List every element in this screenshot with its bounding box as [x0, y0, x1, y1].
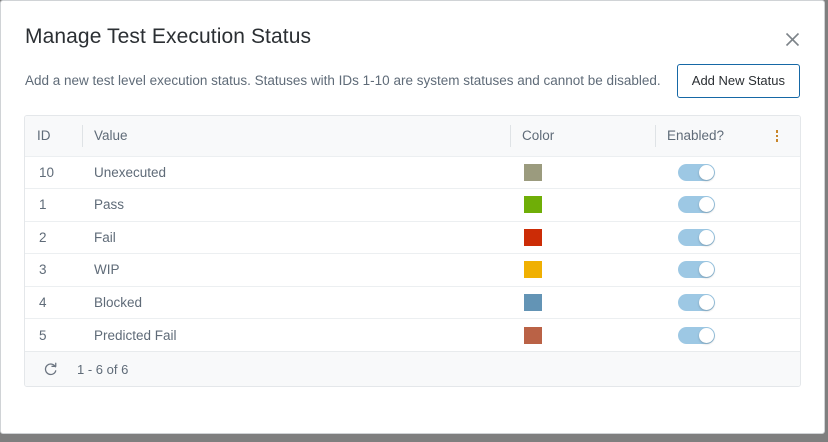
- cell-row-menu: [765, 319, 801, 352]
- close-icon[interactable]: [780, 27, 804, 51]
- cell-enabled: [655, 156, 765, 189]
- enabled-toggle[interactable]: [678, 229, 715, 246]
- column-header-color[interactable]: Color: [510, 116, 655, 156]
- status-table: ID Value Color Enabled? 10Unexecuted1Pas…: [25, 116, 801, 351]
- cell-id: 5: [25, 319, 82, 352]
- column-header-value[interactable]: Value: [82, 116, 510, 156]
- table-header-row: ID Value Color Enabled?: [25, 116, 801, 156]
- color-swatch[interactable]: [524, 229, 542, 246]
- cell-value: Pass: [82, 189, 510, 222]
- more-vertical-icon[interactable]: [769, 128, 785, 144]
- add-new-status-button[interactable]: Add New Status: [677, 64, 800, 98]
- cell-color: [510, 221, 655, 254]
- pagination-range-label: 1 - 6 of 6: [77, 362, 128, 377]
- cell-id: 2: [25, 221, 82, 254]
- cell-row-menu: [765, 254, 801, 287]
- dialog-subheader: Add a new test level execution status. S…: [1, 51, 824, 98]
- toggle-knob: [699, 328, 714, 343]
- enabled-toggle[interactable]: [678, 327, 715, 344]
- enabled-toggle[interactable]: [678, 164, 715, 181]
- toggle-knob: [699, 197, 714, 212]
- color-swatch[interactable]: [524, 196, 542, 213]
- toggle-knob: [699, 165, 714, 180]
- table-body: 10Unexecuted1Pass2Fail3WIP4Blocked5Predi…: [25, 156, 801, 351]
- cell-enabled: [655, 221, 765, 254]
- cell-row-menu: [765, 286, 801, 319]
- cell-enabled: [655, 286, 765, 319]
- cell-value: Fail: [82, 221, 510, 254]
- column-header-menu: [765, 116, 801, 156]
- column-header-id[interactable]: ID: [25, 116, 82, 156]
- cell-color: [510, 319, 655, 352]
- cell-row-menu: [765, 221, 801, 254]
- table-row[interactable]: 2Fail: [25, 221, 801, 254]
- cell-row-menu: [765, 189, 801, 222]
- toggle-knob: [699, 262, 714, 277]
- cell-value: Predicted Fail: [82, 319, 510, 352]
- color-swatch[interactable]: [524, 294, 542, 311]
- color-swatch[interactable]: [524, 261, 542, 278]
- toggle-knob: [699, 295, 714, 310]
- enabled-toggle[interactable]: [678, 261, 715, 278]
- dialog-description: Add a new test level execution status. S…: [25, 72, 661, 90]
- enabled-toggle[interactable]: [678, 196, 715, 213]
- manage-test-execution-status-dialog: Manage Test Execution Status Add a new t…: [0, 0, 825, 434]
- table-row[interactable]: 5Predicted Fail: [25, 319, 801, 352]
- status-table-container: ID Value Color Enabled? 10Unexecuted1Pas…: [24, 115, 801, 387]
- cell-color: [510, 254, 655, 287]
- cell-id: 10: [25, 156, 82, 189]
- toggle-knob: [699, 230, 714, 245]
- table-footer: 1 - 6 of 6: [25, 351, 800, 386]
- cell-value: WIP: [82, 254, 510, 287]
- cell-value: Unexecuted: [82, 156, 510, 189]
- page-title: Manage Test Execution Status: [25, 23, 796, 51]
- cell-row-menu: [765, 156, 801, 189]
- cell-enabled: [655, 189, 765, 222]
- cell-color: [510, 156, 655, 189]
- table-row[interactable]: 3WIP: [25, 254, 801, 287]
- color-swatch[interactable]: [524, 327, 542, 344]
- table-row[interactable]: 10Unexecuted: [25, 156, 801, 189]
- cell-id: 3: [25, 254, 82, 287]
- cell-id: 4: [25, 286, 82, 319]
- table-row[interactable]: 1Pass: [25, 189, 801, 222]
- cell-enabled: [655, 319, 765, 352]
- enabled-toggle[interactable]: [678, 294, 715, 311]
- cell-id: 1: [25, 189, 82, 222]
- refresh-icon[interactable]: [39, 358, 61, 380]
- color-swatch[interactable]: [524, 164, 542, 181]
- table-row[interactable]: 4Blocked: [25, 286, 801, 319]
- cell-color: [510, 189, 655, 222]
- table-header: ID Value Color Enabled?: [25, 116, 801, 156]
- column-header-enabled[interactable]: Enabled?: [655, 116, 765, 156]
- cell-value: Blocked: [82, 286, 510, 319]
- cell-enabled: [655, 254, 765, 287]
- cell-color: [510, 286, 655, 319]
- dialog-header: Manage Test Execution Status: [1, 1, 824, 51]
